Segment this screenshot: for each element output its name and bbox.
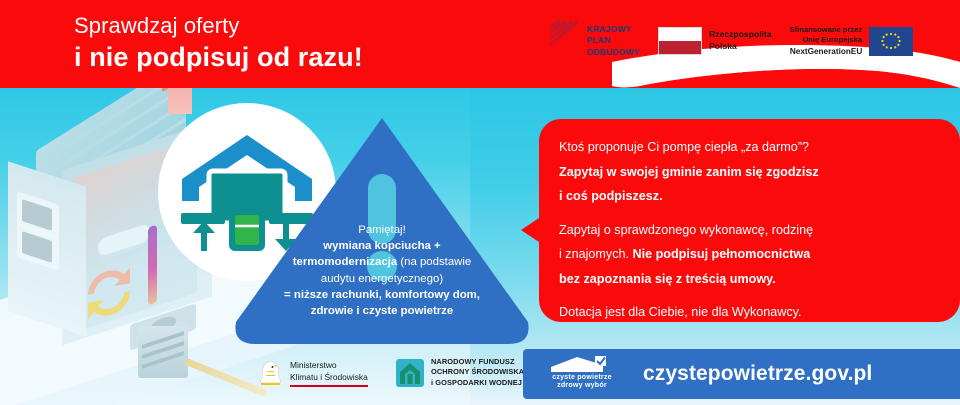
ministry-line1: Ministerstwo: [290, 359, 368, 371]
kpo-line1: KRAJOWY: [587, 24, 632, 34]
circular-arrows-icon: [78, 256, 140, 329]
republic-of-poland-logo: Rzeczpospolita Polska: [658, 27, 772, 55]
header-text: Sprawdzaj oferty i nie podpisuj od razu!: [74, 12, 534, 75]
bubble-paragraph-gap: [559, 209, 929, 218]
warning-triangle-text: Pamiętaj! wymiana kopciucha + termomoder…: [246, 222, 518, 319]
ministry-line2: Klimatu i Środowiska: [290, 371, 368, 383]
nfosigw-line1: NARODOWY FUNDUSZ: [431, 357, 515, 366]
flag-white-stripe: [659, 28, 701, 41]
kpo-line2: PLAN: [587, 35, 611, 45]
rp-line1: Rzeczpospolita: [709, 29, 772, 39]
warning-line-1: Pamiętaj!: [246, 222, 518, 238]
warning-line-3: termomodernizacja (na podstawie: [246, 254, 518, 270]
warning-line-2: wymiana kopciucha +: [246, 238, 518, 254]
header-banner: Sprawdzaj oferty i nie podpisuj od razu!…: [0, 0, 960, 88]
clean-air-program-logo: czyste powietrze zdrowy wybór: [545, 356, 619, 392]
polish-eagle-icon: [258, 359, 283, 387]
page-title-line2: i nie podpisuj od razu!: [74, 40, 534, 75]
eu-line1: Sfinansowane przez: [790, 25, 863, 34]
speech-bubble-tail: [521, 214, 545, 246]
heat-pump-unit-icon: [138, 326, 188, 378]
warning-line-6: zdrowie i czyste powietrze: [246, 303, 518, 319]
bubble-paragraph-gap: [559, 291, 929, 300]
bubble-line-6: bez zapoznania się z treścią umowy.: [559, 267, 929, 292]
kpo-logo: KRAJOWY PLAN ODBUDOWY: [548, 24, 640, 58]
kpo-line3: ODBUDOWY: [587, 47, 640, 57]
nfosigw-logo-text: NARODOWY FUNDUSZ OCHRONY ŚRODOWISKA i GO…: [431, 357, 524, 388]
bubble-line-1: Ktoś proponuje Ci pompę ciepła „za darmo…: [559, 135, 929, 160]
nfosigw-tree-icon: [396, 359, 424, 387]
top-logo-row: KRAJOWY PLAN ODBUDOWY Rzeczpospolita Pol…: [548, 17, 913, 65]
bottom-logo-row: Ministerstwo Klimatu i Środowiska NARODO…: [258, 357, 524, 388]
bubble-line-5: i znajomych. Nie podpisuj pełnomocnictwa: [559, 242, 929, 267]
campaign-banner: Pamiętaj! wymiana kopciucha + termomoder…: [0, 0, 960, 405]
nfosigw-line2: OCHRONY ŚRODOWISKA: [431, 367, 524, 376]
eu-flag-icon: [869, 27, 913, 56]
speech-bubble: Ktoś proponuje Ci pompę ciepła „za darmo…: [523, 119, 960, 322]
eu-funding-text: Sfinansowane przez Unię Europejską NextG…: [790, 25, 863, 57]
ministry-logo-text-wrap: Ministerstwo Klimatu i Środowiska: [290, 359, 368, 387]
thermal-riser: [148, 225, 157, 306]
website-bar[interactable]: czyste powietrze zdrowy wybór czystepowi…: [523, 349, 960, 399]
ministry-logo: Ministerstwo Klimatu i Środowiska: [258, 359, 368, 387]
flag-red-stripe: [659, 41, 701, 54]
polish-flag-icon: [658, 27, 702, 55]
bubble-line-4: Zapytaj o sprawdzonego wykonawcę, rodzin…: [559, 218, 929, 243]
page-title-line1: Sprawdzaj oferty: [74, 12, 534, 40]
bubble-line-3: i coś podpiszesz.: [559, 184, 929, 209]
kpo-stairs-icon: [548, 26, 580, 56]
nfosigw-line3: i GOSPODARKI WODNEJ: [431, 378, 522, 387]
bubble-line-2: Zapytaj w swojej gminie zanim się zgodzi…: [559, 160, 929, 185]
website-url[interactable]: czystepowietrze.gov.pl: [643, 362, 872, 386]
kpo-logo-text: KRAJOWY PLAN ODBUDOWY: [587, 24, 640, 58]
eu-line3: NextGenerationEU: [790, 47, 862, 56]
eu-line2: Unię Europejską: [803, 35, 863, 44]
nfosigw-logo: NARODOWY FUNDUSZ OCHRONY ŚRODOWISKA i GO…: [396, 357, 524, 388]
rp-line2: Polska: [709, 41, 737, 51]
warning-triangle: Pamiętaj! wymiana kopciucha + termomoder…: [232, 114, 532, 344]
warning-line-5: = niższe rachunki, komfortowy dom,: [246, 287, 518, 303]
republic-of-poland-text: Rzeczpospolita Polska: [709, 29, 772, 53]
program-logo-line1: czyste powietrze: [545, 373, 619, 381]
program-logo-line2: zdrowy wybór: [545, 381, 619, 389]
speech-bubble-text: Ktoś proponuje Ci pompę ciepła „za darmo…: [559, 135, 929, 325]
warning-line-4: audytu energetycznego): [246, 271, 518, 287]
bubble-line-7: Dotacja jest dla Ciebie, nie dla Wykonaw…: [559, 300, 929, 325]
ministry-red-rule: [290, 385, 368, 387]
eu-funding-logo: Sfinansowane przez Unię Europejską NextG…: [790, 25, 914, 57]
